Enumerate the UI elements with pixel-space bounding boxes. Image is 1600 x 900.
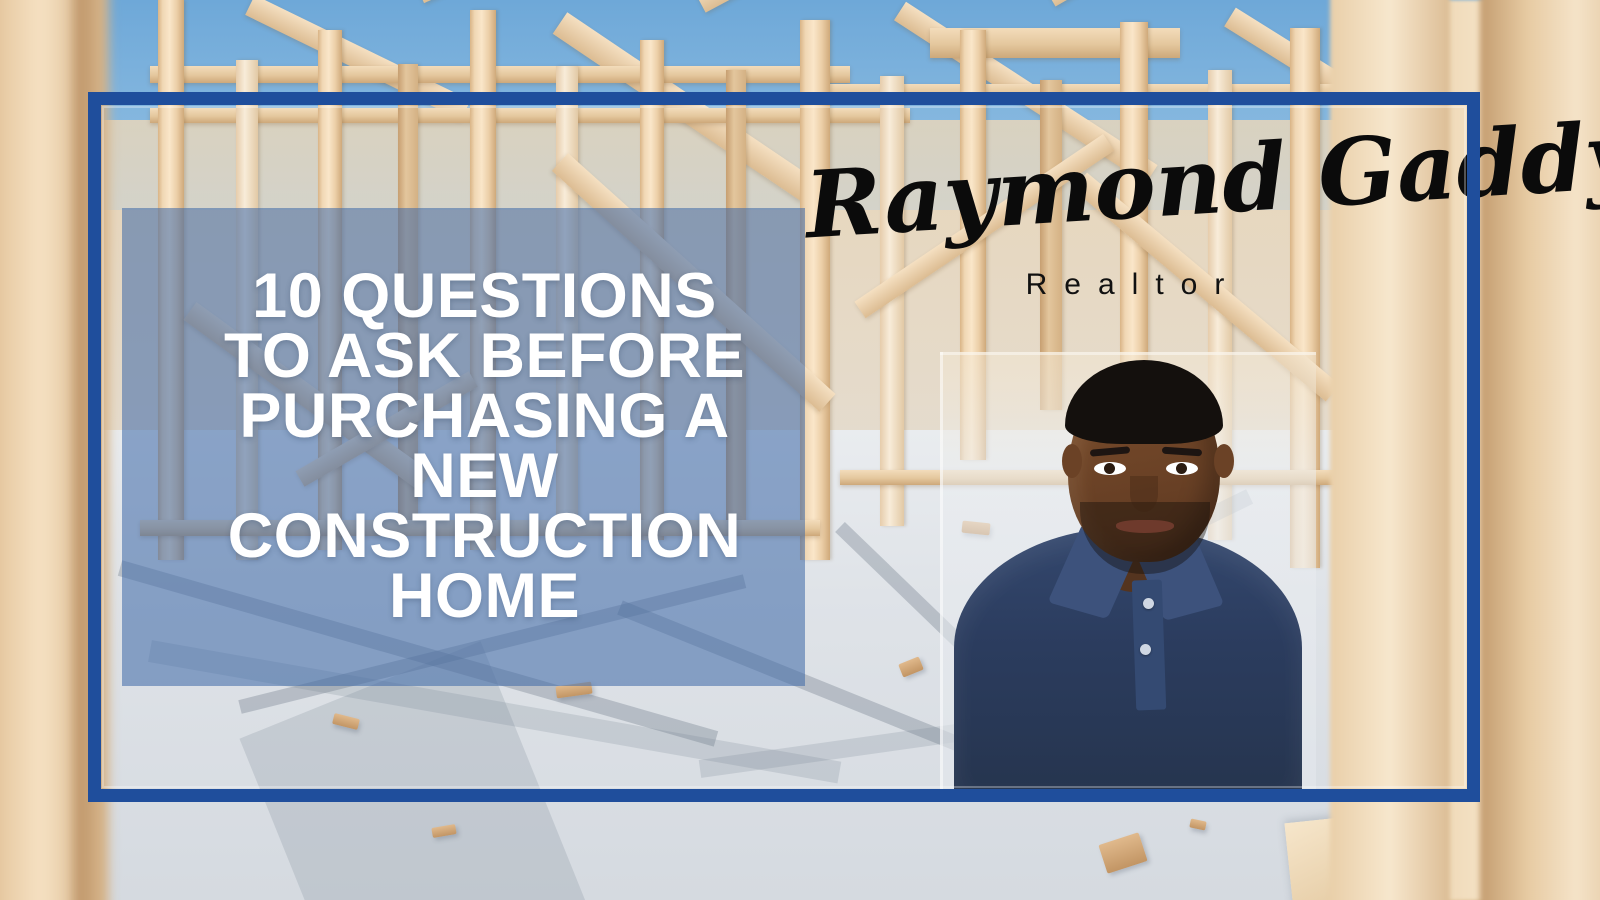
portrait-mouth <box>1116 520 1174 533</box>
headline-panel: 10 QUESTIONS TO ASK BEFORE PURCHASING A … <box>122 208 805 686</box>
portrait-button <box>1143 598 1154 609</box>
portrait-button <box>1140 644 1151 655</box>
agent-portrait <box>940 352 1316 790</box>
portrait-nose <box>1130 476 1158 512</box>
poster-canvas: NO.2 STUD DOUG FIR NO.2 & BTR S-DRY <box>0 0 1600 900</box>
portrait-eye-left <box>1094 462 1126 475</box>
portrait-cutout-edge-top <box>940 352 1316 355</box>
page-title: 10 QUESTIONS TO ASK BEFORE PURCHASING A … <box>164 267 805 626</box>
portrait-ear-right <box>1214 444 1234 478</box>
foreground-post-left-inner <box>74 0 108 900</box>
portrait-ear-left <box>1062 444 1082 478</box>
portrait-eye-right <box>1166 462 1198 475</box>
agent-title: Realtor <box>805 268 1445 302</box>
portrait-cutout-edge-left <box>940 352 943 790</box>
agent-logo: Raymond Gaddy Realtor <box>805 140 1445 340</box>
agent-name-signature: Raymond Gaddy <box>803 121 1447 252</box>
top-plate <box>150 108 910 123</box>
